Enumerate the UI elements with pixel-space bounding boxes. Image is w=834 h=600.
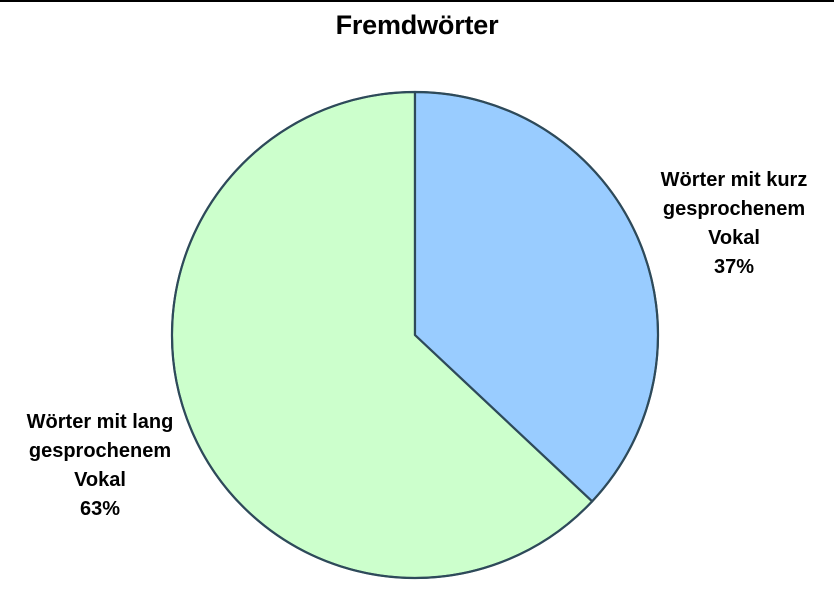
slice-label-percent: 37% — [634, 253, 834, 282]
slice-label-line-2: gesprochenem — [634, 195, 834, 224]
slice-label-line-2: gesprochenem — [0, 437, 200, 466]
slice-label-line-1: Wörter mit lang — [0, 408, 200, 437]
slice-label-line-3: Vokal — [634, 224, 834, 253]
pie-chart-figure: Fremdwörter Wörter mit kurz gesprochenem… — [0, 0, 834, 600]
slice-label-lang-gesprochener-vokal: Wörter mit lang gesprochenem Vokal 63% — [0, 408, 200, 524]
slice-label-kurz-gesprochener-vokal: Wörter mit kurz gesprochenem Vokal 37% — [634, 166, 834, 282]
slice-label-line-1: Wörter mit kurz — [634, 166, 834, 195]
slice-label-percent: 63% — [0, 495, 200, 524]
slice-label-line-3: Vokal — [0, 466, 200, 495]
